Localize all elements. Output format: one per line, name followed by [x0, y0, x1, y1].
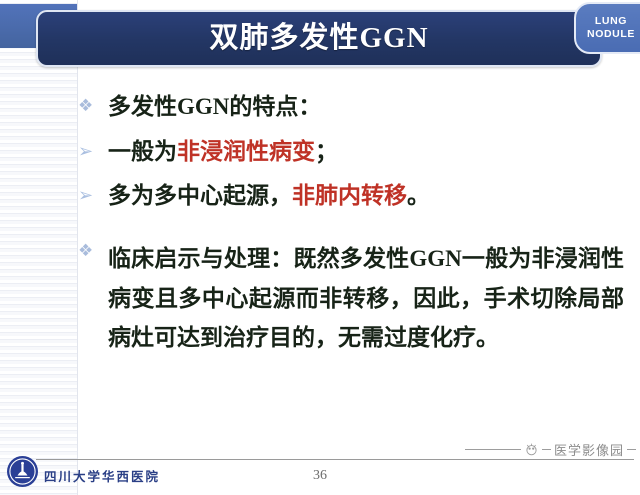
bullet-item-1-label: 多发性GGN的特点： — [108, 93, 630, 121]
title-bar-wrapper: 双肺多发性GGN — [36, 10, 602, 67]
title-bar: 双肺多发性GGN — [36, 10, 602, 67]
bullet-item-2: ➢ 一般为非浸润性病变； — [78, 138, 630, 166]
arrow-bullet-icon: ➢ — [78, 182, 108, 210]
lung-nodule-badge: LUNG NODULE — [574, 2, 640, 54]
watermark-logo-icon — [524, 442, 539, 457]
bullet-3-suffix: 。 — [407, 183, 430, 208]
paragraph-text: 临床启示与处理：既然多发性GGN一般为非浸润性病变且多中心起源而非转移，因此，手… — [108, 239, 630, 358]
bullet-item-1: ❖ 多发性GGN的特点： — [78, 93, 630, 121]
bullet-3-highlight: 非肺内转移 — [292, 183, 407, 208]
slide-content: ❖ 多发性GGN的特点： ➢ 一般为非浸润性病变； ➢ 多为多中心起源，非肺内转… — [78, 82, 630, 358]
slide-title: 双肺多发性GGN — [209, 24, 428, 53]
paragraph-block: ❖ 临床启示与处理：既然多发性GGN一般为非浸润性病变且多中心起源而非转移，因此… — [78, 239, 630, 358]
watermark-rule-left — [465, 449, 521, 450]
watermark: 医学影像园 — [465, 440, 636, 459]
badge-line-1: LUNG — [595, 15, 627, 28]
slide: 双肺多发性GGN LUNG NODULE ❖ 多发性GGN的特点： ➢ 一般为非… — [0, 0, 640, 495]
watermark-text: 医学影像园 — [554, 440, 624, 459]
bullet-item-3: ➢ 多为多中心起源，非肺内转移。 — [78, 182, 630, 210]
bullet-item-2-label: 一般为非浸润性病变； — [108, 138, 630, 166]
bullet-3-prefix: 多为多中心起源， — [108, 183, 292, 208]
diamond-bullet-icon: ❖ — [78, 93, 108, 119]
bullet-item-3-label: 多为多中心起源，非肺内转移。 — [108, 182, 630, 210]
bullet-2-highlight: 非浸润性病变 — [177, 139, 315, 164]
badge-line-2: NODULE — [587, 28, 635, 41]
arrow-bullet-icon: ➢ — [78, 138, 108, 166]
watermark-rule-mid — [542, 449, 551, 450]
footer-divider — [36, 459, 634, 460]
diamond-bullet-icon: ❖ — [78, 239, 108, 265]
watermark-rule-right — [627, 449, 636, 450]
page-number: 36 — [0, 468, 640, 484]
bullet-2-prefix: 一般为 — [108, 139, 177, 164]
bullet-2-suffix: ； — [315, 139, 338, 164]
left-decorative-rail — [0, 0, 78, 495]
